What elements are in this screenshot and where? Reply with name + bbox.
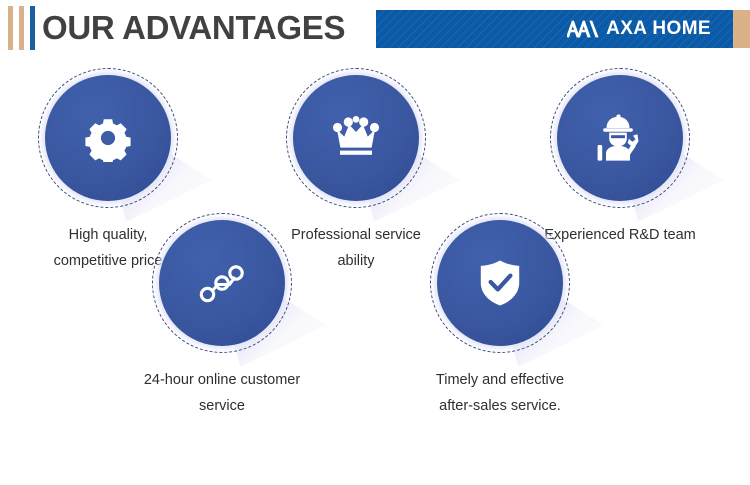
icon-medallion [550,68,690,208]
axa-double-a-logo-icon [567,19,599,39]
gear-icon [84,114,132,162]
accent-bar-tan-1 [8,6,13,50]
icon-medallion [152,213,292,353]
medallion-disc [159,220,285,346]
caption-line-2: service [127,393,317,419]
brand-lockup: AXA HOME [567,10,711,48]
brand-name: AXA HOME [606,18,711,40]
shield-check-icon [479,259,521,307]
advantage-card-after-sales-service: Timely and effective after-sales service… [405,213,595,419]
caption-line-1: 24-hour online customer [127,367,317,393]
medallion-disc [557,75,683,201]
page-title: OUR ADVANTAGES [42,7,345,49]
advantages-page: OUR ADVANTAGES [0,0,750,485]
icon-medallion [430,213,570,353]
caption-line-2: after-sales service. [405,393,595,419]
page-header: OUR ADVANTAGES [0,0,750,58]
brand-banner-tan-cap [733,10,750,48]
crown-icon [332,116,380,160]
advantage-card-online-customer-service: 24-hour online customer service [127,213,317,419]
network-nodes-icon [198,261,246,305]
accent-bar-blue [30,6,35,50]
icon-medallion [38,68,178,208]
brand-banner: AXA HOME [376,10,733,48]
medallion-disc [437,220,563,346]
advantage-caption: Timely and effective after-sales service… [405,367,595,419]
caption-line-1: Timely and effective [405,367,595,393]
medallion-disc [45,75,171,201]
accent-bar-tan-2 [19,6,24,50]
icon-medallion [286,68,426,208]
advantage-caption: 24-hour online customer service [127,367,317,419]
engineer-worker-icon [595,114,645,162]
medallion-disc [293,75,419,201]
advantage-cards-grid: High quality, competitive price [0,58,750,485]
